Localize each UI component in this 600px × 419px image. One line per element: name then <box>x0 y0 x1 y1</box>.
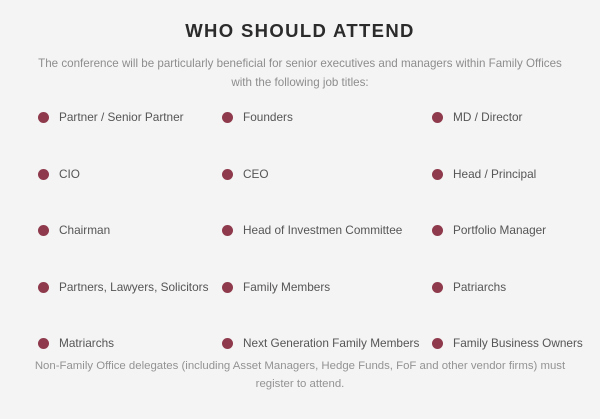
attendee-job-title-grid: Partner / Senior Partner Founders MD / D… <box>0 111 600 394</box>
filled-circle-bullet-icon <box>432 169 443 180</box>
filled-circle-bullet-icon <box>222 338 233 349</box>
filled-circle-bullet-icon <box>38 282 49 293</box>
list-item: MD / Director <box>432 111 590 124</box>
filled-circle-bullet-icon <box>222 225 233 236</box>
filled-circle-bullet-icon <box>222 169 233 180</box>
list-item: Partner / Senior Partner <box>38 111 222 124</box>
list-item-label: Matriarchs <box>59 337 114 350</box>
list-item: Head / Principal <box>432 168 590 181</box>
list-item-label: MD / Director <box>453 111 522 124</box>
list-item-label: Head / Principal <box>453 168 536 181</box>
filled-circle-bullet-icon <box>38 169 49 180</box>
list-item: Founders <box>222 111 432 124</box>
filled-circle-bullet-icon <box>432 225 443 236</box>
list-item: Family Business Owners <box>432 337 590 350</box>
filled-circle-bullet-icon <box>38 338 49 349</box>
list-item: Partners, Lawyers, Solicitors <box>38 281 222 294</box>
list-item-label: CIO <box>59 168 80 181</box>
list-item-label: CEO <box>243 168 269 181</box>
list-item-label: Head of Investmen Committee <box>243 224 402 237</box>
list-item: Matriarchs <box>38 337 222 350</box>
filled-circle-bullet-icon <box>38 225 49 236</box>
list-item-label: Next Generation Family Members <box>243 337 419 350</box>
list-item: Family Members <box>222 281 432 294</box>
list-item-label: Chairman <box>59 224 110 237</box>
registration-footnote: Non-Family Office delegates (including A… <box>0 357 600 394</box>
list-item-label: Family Business Owners <box>453 337 583 350</box>
list-item-label: Founders <box>243 111 293 124</box>
list-item-label: Partners, Lawyers, Solicitors <box>59 281 208 294</box>
page-title: WHO SHOULD ATTEND <box>0 0 600 42</box>
list-item-label: Portfolio Manager <box>453 224 546 237</box>
list-item: Portfolio Manager <box>432 224 590 237</box>
list-item: Chairman <box>38 224 222 237</box>
list-item: CEO <box>222 168 432 181</box>
filled-circle-bullet-icon <box>432 282 443 293</box>
filled-circle-bullet-icon <box>38 112 49 123</box>
filled-circle-bullet-icon <box>222 112 233 123</box>
list-item-label: Patriarchs <box>453 281 506 294</box>
list-item: Patriarchs <box>432 281 590 294</box>
section-intro-text: The conference will be particularly bene… <box>0 42 600 92</box>
list-item-label: Family Members <box>243 281 330 294</box>
filled-circle-bullet-icon <box>432 112 443 123</box>
filled-circle-bullet-icon <box>222 282 233 293</box>
list-item: Head of Investmen Committee <box>222 224 432 237</box>
list-item: CIO <box>38 168 222 181</box>
filled-circle-bullet-icon <box>432 338 443 349</box>
list-item: Next Generation Family Members <box>222 337 432 350</box>
who-should-attend-section: WHO SHOULD ATTEND The conference will be… <box>0 0 600 419</box>
list-item-label: Partner / Senior Partner <box>59 111 184 124</box>
